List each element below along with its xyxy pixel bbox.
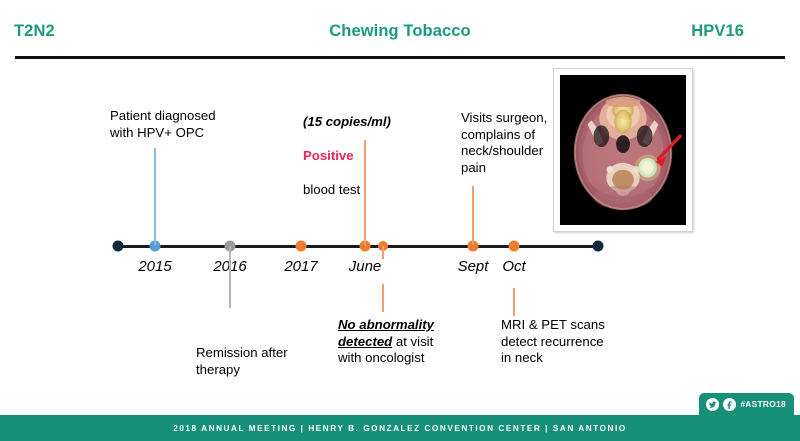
tick-label-june: June (349, 258, 382, 275)
header-divider (15, 56, 785, 59)
stem-2015 (154, 148, 156, 245)
tick-label-2015: 2015 (138, 258, 171, 275)
facebook-icon[interactable] (723, 398, 736, 411)
blood-test-copies: (15 copies/ml) (303, 114, 391, 129)
annotation-visits-surgeon: Visits surgeon, complains of neck/should… (461, 110, 547, 176)
annotation-blood-test: (15 copies/ml) Positive blood test (303, 96, 391, 198)
social-hashtag-tab[interactable]: #ASTRO18 (699, 393, 794, 415)
end-node[interactable] (593, 241, 604, 252)
slide-canvas: T2N2 Chewing Tobacco HPV16 201520162017J… (0, 0, 800, 441)
annotation-diagnosis: Patient diagnosed with HPV+ OPC (110, 108, 216, 141)
stem-oct (513, 288, 515, 316)
stem-june-bottom (382, 284, 384, 312)
node-oct[interactable] (509, 241, 520, 252)
stem-sept (472, 186, 474, 245)
annotation-scans: MRI & PET scans detect recurrence in nec… (501, 317, 605, 367)
tick-label-sept: Sept (458, 258, 489, 275)
pet-ct-scan-graphic (560, 75, 686, 225)
node-2017[interactable] (296, 241, 307, 252)
blood-test-rest: blood test (303, 182, 360, 197)
start-node[interactable] (113, 241, 124, 252)
annotation-remission: Remission after therapy (196, 345, 288, 378)
timeline-axis (116, 245, 600, 248)
header-risk-factor-label: Chewing Tobacco (0, 22, 800, 41)
blood-test-positive: Positive (303, 148, 354, 163)
footer-bar: 2018 ANNUAL MEETING | HENRY B. GONZALEZ … (0, 415, 800, 441)
stem-2016 (229, 246, 231, 308)
stem-june-stub (382, 246, 384, 259)
tick-label-2017: 2017 (284, 258, 317, 275)
twitter-icon[interactable] (706, 398, 719, 411)
header-virus-label: HPV16 (691, 22, 744, 41)
pet-ct-scan-image[interactable] (553, 68, 693, 232)
tick-label-oct: Oct (502, 258, 525, 275)
footer-text: 2018 ANNUAL MEETING | HENRY B. GONZALEZ … (173, 424, 627, 433)
annotation-no-abnormality: No abnormality detected at visit with on… (338, 317, 466, 367)
hashtag-label: #ASTRO18 (740, 399, 786, 409)
